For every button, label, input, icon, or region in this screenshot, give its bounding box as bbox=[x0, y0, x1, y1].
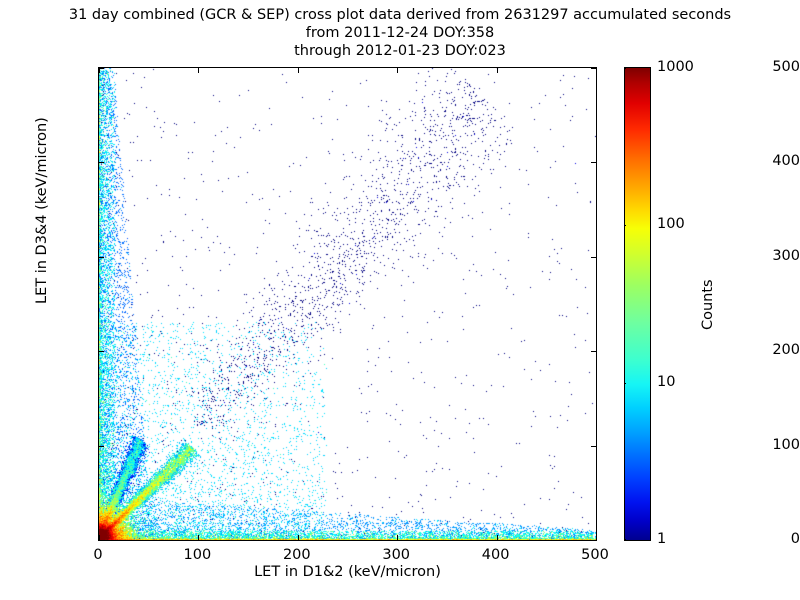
y-ticklabel-100: 100 bbox=[712, 437, 800, 453]
title-line-3: through 2012-01-23 DOY:023 bbox=[0, 42, 800, 60]
y-tick-right-400 bbox=[591, 162, 597, 163]
y-ticklabel-200: 200 bbox=[712, 342, 800, 358]
x-ticklabel-200: 200 bbox=[283, 547, 311, 563]
x-tick-400 bbox=[497, 535, 498, 541]
colorbar-label: Counts bbox=[700, 279, 716, 330]
colorbar-tick-10 bbox=[624, 383, 626, 384]
y-tick-right-500 bbox=[591, 68, 597, 69]
x-tick-top-400 bbox=[497, 67, 498, 73]
y-tick-0 bbox=[98, 540, 104, 541]
chart-title: 31 day combined (GCR & SEP) cross plot d… bbox=[0, 6, 800, 60]
plot-area bbox=[98, 67, 597, 541]
y-ticklabel-500: 500 bbox=[712, 59, 800, 75]
figure-canvas: 31 day combined (GCR & SEP) cross plot d… bbox=[0, 0, 800, 600]
y-tick-right-0 bbox=[591, 540, 597, 541]
x-ticklabel-0: 0 bbox=[93, 547, 102, 563]
colorbar-ticklabel-100: 100 bbox=[657, 216, 685, 232]
x-tick-100 bbox=[198, 535, 199, 541]
y-tick-right-300 bbox=[591, 257, 597, 258]
colorbar-ticklabel-10: 10 bbox=[657, 374, 675, 390]
colorbar-ticklabel-1000: 1000 bbox=[657, 59, 694, 75]
x-tick-top-0 bbox=[99, 67, 100, 73]
colorbar-gradient bbox=[625, 68, 650, 540]
x-tick-top-300 bbox=[397, 67, 398, 73]
scatter-heatmap bbox=[99, 68, 596, 540]
x-tick-top-100 bbox=[198, 67, 199, 73]
y-tick-100 bbox=[98, 446, 104, 447]
colorbar-tick-1000 bbox=[624, 68, 626, 69]
y-tick-200 bbox=[98, 351, 104, 352]
y-axis-label: LET in D3&4 (keV/micron) bbox=[34, 117, 50, 304]
y-tick-right-200 bbox=[591, 351, 597, 352]
y-ticklabel-300: 300 bbox=[712, 248, 800, 264]
y-tick-300 bbox=[98, 257, 104, 258]
x-tick-0 bbox=[99, 535, 100, 541]
x-ticklabel-300: 300 bbox=[382, 547, 410, 563]
x-tick-top-200 bbox=[298, 67, 299, 73]
colorbar-ticklabel-1: 1 bbox=[657, 531, 666, 547]
y-tick-400 bbox=[98, 162, 104, 163]
x-tick-500 bbox=[596, 535, 597, 541]
y-ticklabel-0: 0 bbox=[712, 531, 800, 547]
x-tick-top-500 bbox=[596, 67, 597, 73]
x-ticklabel-500: 500 bbox=[581, 547, 609, 563]
x-tick-300 bbox=[397, 535, 398, 541]
colorbar bbox=[624, 67, 651, 541]
x-ticklabel-100: 100 bbox=[184, 547, 212, 563]
y-ticklabel-400: 400 bbox=[712, 153, 800, 169]
y-tick-right-100 bbox=[591, 446, 597, 447]
title-line-2: from 2011-12-24 DOY:358 bbox=[0, 24, 800, 42]
x-axis-label: LET in D1&2 (keV/micron) bbox=[98, 564, 597, 580]
x-ticklabel-400: 400 bbox=[482, 547, 510, 563]
x-tick-200 bbox=[298, 535, 299, 541]
title-line-1: 31 day combined (GCR & SEP) cross plot d… bbox=[0, 6, 800, 24]
colorbar-tick-1 bbox=[624, 539, 626, 540]
colorbar-tick-100 bbox=[624, 225, 626, 226]
